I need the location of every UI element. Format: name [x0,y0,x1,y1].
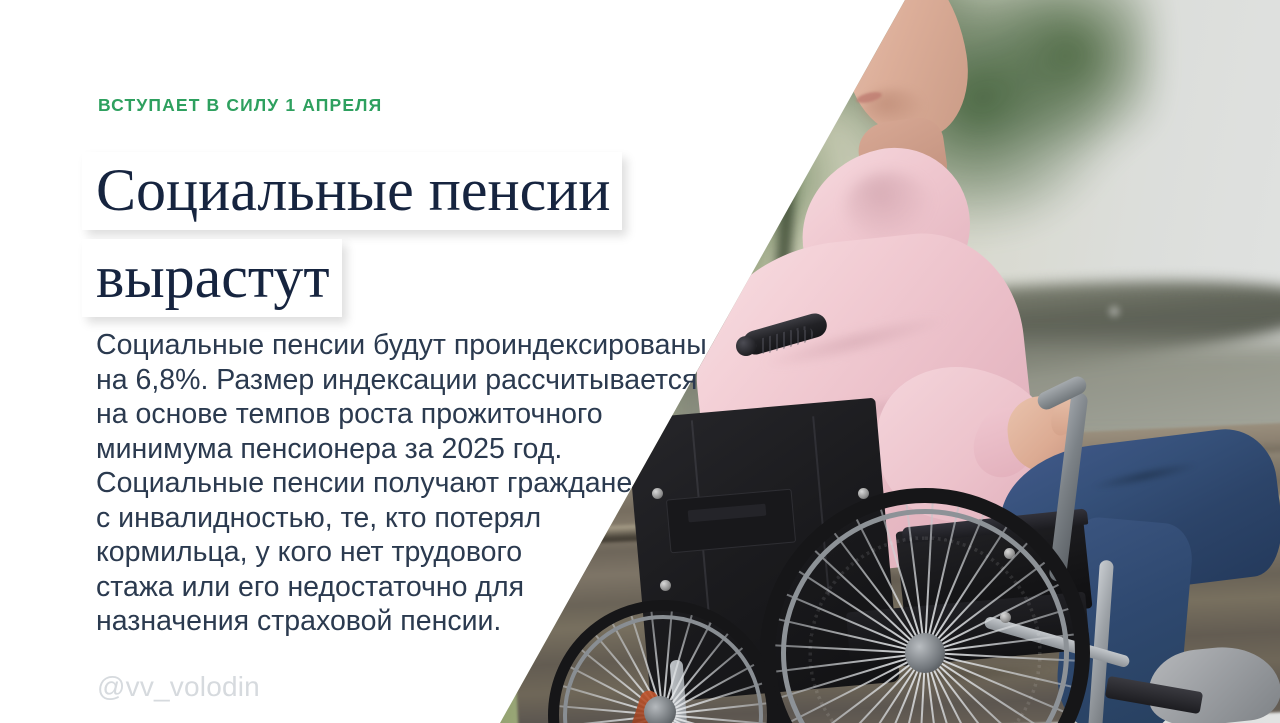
headline-row: вырастут [82,239,722,317]
body-line: с инвалидностью, те, кто потерял [96,501,716,536]
account-watermark: @vv_volodin [97,671,260,703]
front-wheel-hub [644,696,676,723]
body-line: кормильца, у кого нет трудового [96,535,716,570]
body-copy: Социальные пенсии будут проиндексированы… [96,328,716,639]
body-line: Социальные пенсии будут проиндексированы [96,328,716,363]
headline-row: Социальные пенсии [82,152,722,230]
headline-line-1: Социальные пенсии [82,152,622,230]
eyebrow-label: ВСТУПАЕТ В СИЛУ 1 АПРЕЛЯ [98,97,382,115]
headline-line-2: вырастут [82,239,342,317]
body-line: назначения страховой пенсии. [96,604,716,639]
social-media-post-card: ВСТУПАЕТ В СИЛУ 1 АПРЕЛЯ Социальные пенс… [0,0,1280,723]
rear-wheel-hub [905,633,945,673]
headline: Социальные пенсии вырастут [82,152,722,326]
push-handle-cap [736,336,756,356]
hood-shadow [845,172,933,242]
body-line: на основе темпов роста прожиточного [96,397,716,432]
body-line: стажа или его недостаточно для [96,570,716,605]
body-line: Социальные пенсии получают граждане [96,466,716,501]
body-line: на 6,8%. Размер индексации рассчитываетс… [96,363,716,398]
body-line: минимума пенсионера за 2025 год. [96,432,716,467]
